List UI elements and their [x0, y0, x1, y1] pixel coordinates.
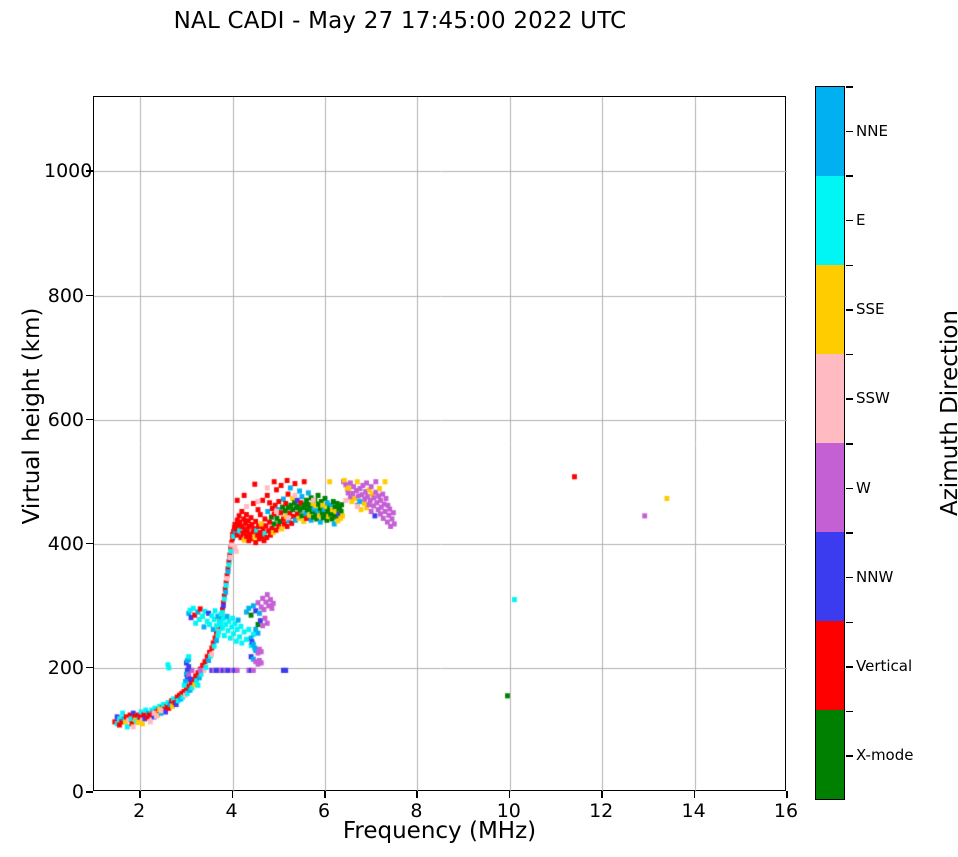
colorbar-tick [846, 265, 853, 267]
colorbar-band-ssw [816, 354, 844, 443]
colorbar-tick [846, 666, 853, 668]
colorbar-band-nnw [816, 532, 844, 621]
y-tick-mark [86, 543, 93, 545]
colorbar-band-w [816, 443, 844, 532]
x-tick-mark [232, 791, 234, 798]
colorbar-band-vertical [816, 621, 844, 710]
x-tick-mark [694, 791, 696, 798]
colorbar-tick [846, 622, 853, 624]
colorbar-tick [846, 86, 853, 88]
x-tick-mark [324, 791, 326, 798]
colorbar [815, 86, 845, 800]
x-tick-mark [416, 791, 418, 798]
colorbar-label-w: W [856, 479, 871, 497]
y-tick-mark [86, 791, 93, 793]
x-tick-mark [139, 791, 141, 798]
colorbar-tick [846, 711, 853, 713]
page-title: NAL CADI - May 27 17:45:00 2022 UTC [0, 8, 800, 34]
colorbar-tick [846, 354, 853, 356]
colorbar-tick [846, 175, 853, 177]
x-tick-mark [509, 791, 511, 798]
colorbar-tick [846, 220, 853, 222]
y-tick-label: 1000 [44, 160, 84, 182]
colorbar-tick [846, 755, 853, 757]
colorbar-band-x-mode [816, 710, 844, 799]
y-tick-mark [86, 170, 93, 172]
colorbar-label-ssw: SSW [856, 389, 890, 407]
colorbar-title: Azimuth Direction [937, 263, 958, 563]
y-tick-label: 600 [44, 409, 84, 431]
colorbar-tick [846, 532, 853, 534]
ionogram-figure: NAL CADI - May 27 17:45:00 2022 UTC 0200… [0, 0, 958, 857]
plot-area [93, 96, 786, 791]
colorbar-tick [846, 131, 853, 133]
colorbar-label-nne: NNE [856, 122, 888, 140]
colorbar-band-sse [816, 265, 844, 354]
scatter-points [94, 97, 787, 792]
colorbar-tick [846, 398, 853, 400]
colorbar-label-e: E [856, 211, 865, 229]
colorbar-tick [846, 577, 853, 579]
colorbar-label-sse: SSE [856, 300, 885, 318]
colorbar-tick [846, 443, 853, 445]
colorbar-tick [846, 488, 853, 490]
y-tick-label: 400 [44, 533, 84, 555]
y-tick-mark [86, 295, 93, 297]
colorbar-label-vertical: Vertical [856, 657, 912, 675]
colorbar-label-nnw: NNW [856, 568, 893, 586]
y-tick-label: 200 [44, 657, 84, 679]
colorbar-band-e [816, 176, 844, 265]
x-tick-mark [786, 791, 788, 798]
colorbar-tick [846, 309, 853, 311]
y-tick-label: 800 [44, 285, 84, 307]
x-tick-mark [601, 791, 603, 798]
colorbar-band-nne [816, 87, 844, 176]
colorbar-label-x-mode: X-mode [856, 746, 913, 764]
y-axis-label: Virtual height (km) [19, 256, 45, 576]
y-tick-mark [86, 419, 93, 421]
x-axis-label: Frequency (MHz) [93, 818, 786, 844]
y-tick-mark [86, 667, 93, 669]
